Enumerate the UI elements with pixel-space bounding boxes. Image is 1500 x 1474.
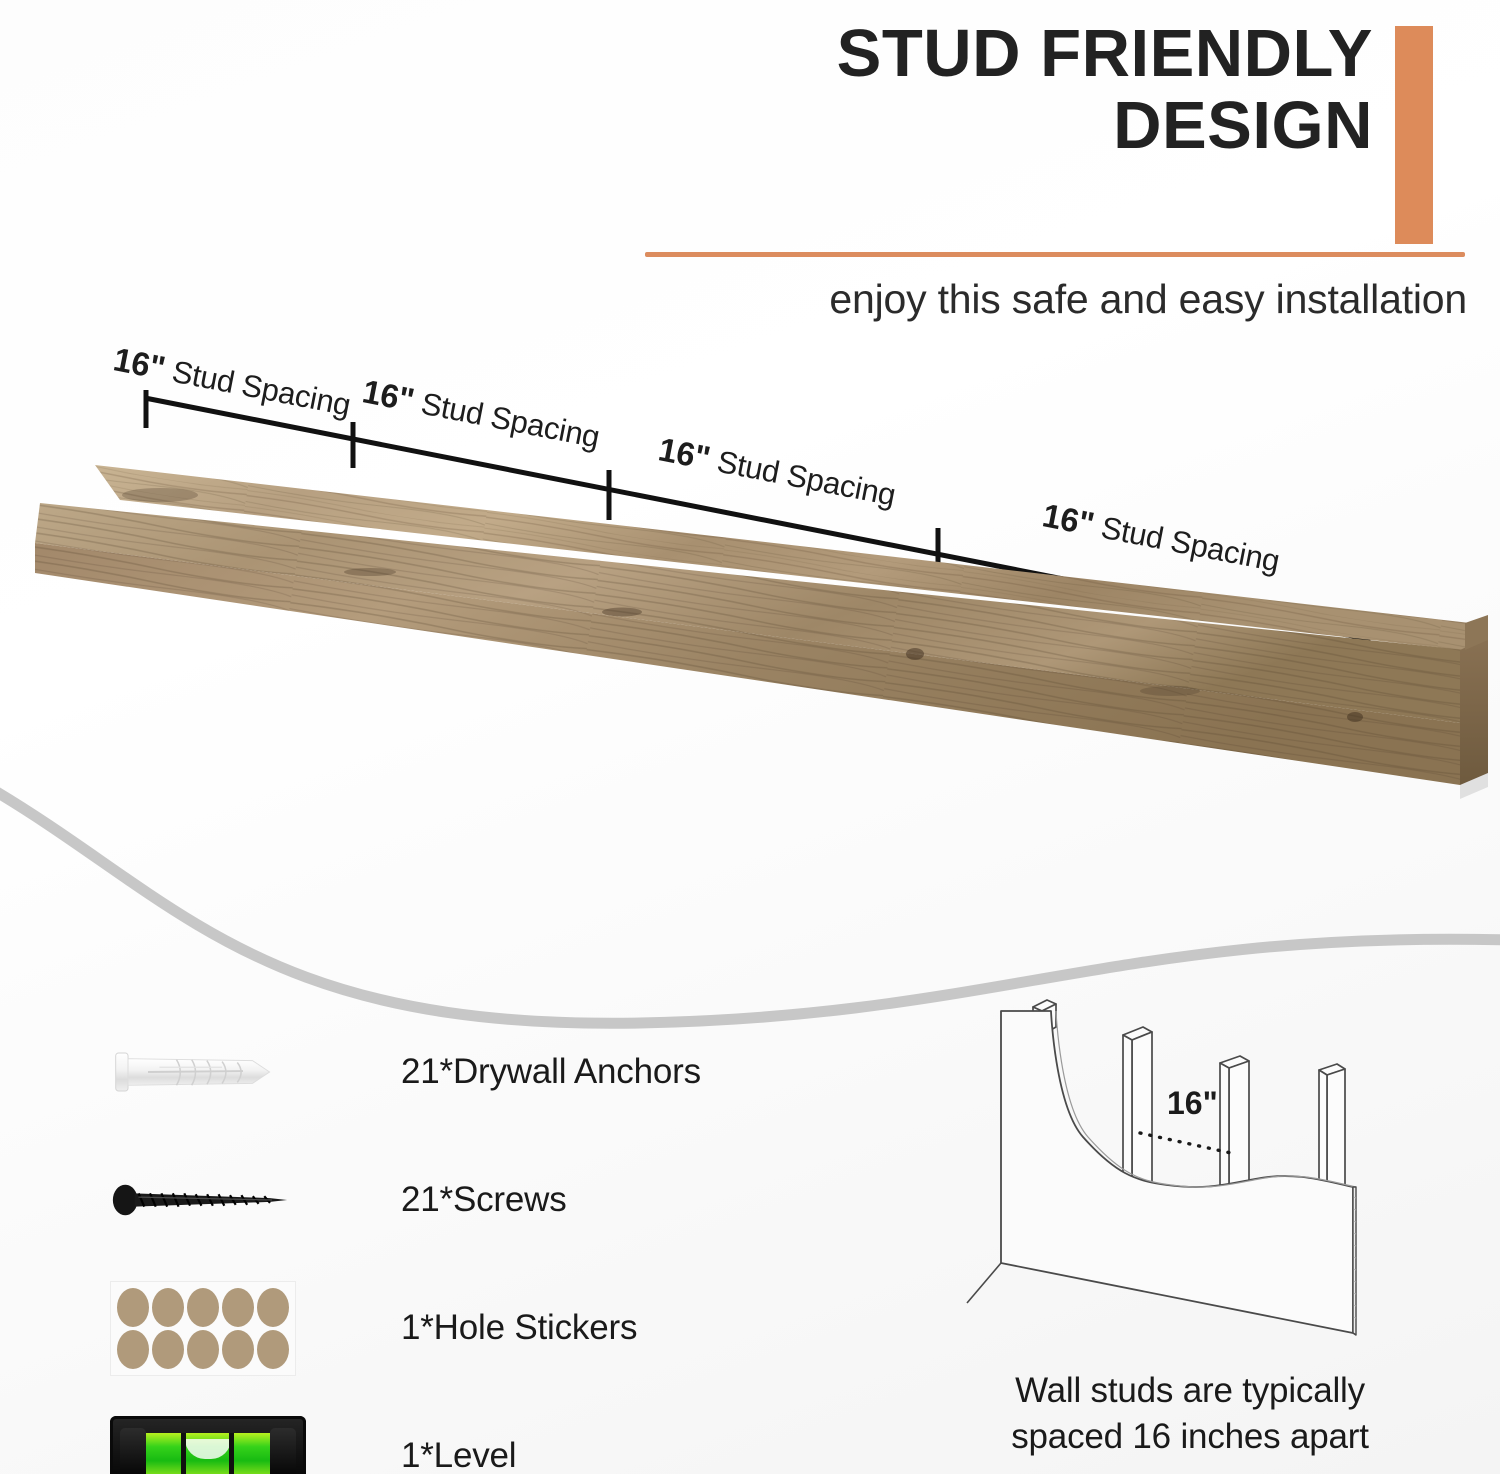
part-row-hole-stickers: 1*Hole Stickers (100, 1264, 760, 1392)
hole-stickers-sheet (110, 1281, 296, 1376)
level-cap-left (120, 1428, 146, 1474)
sticker-dot (222, 1330, 254, 1369)
level-mark-left (181, 1433, 186, 1474)
part-label-hole-stickers: 1*Hole Stickers (315, 1308, 637, 1348)
sticker-dot (257, 1288, 289, 1327)
stud-spacing-value-2: 16" (360, 372, 418, 418)
header-divider-rule (645, 252, 1465, 257)
accent-bar (1395, 26, 1433, 244)
sticker-dot (117, 1330, 149, 1369)
stud-spacing-text-1: Stud Spacing (169, 354, 353, 423)
wall-caption-line-2: spaced 16 inches apart (955, 1414, 1425, 1460)
part-row-screws: 21*Screws (100, 1136, 760, 1264)
wall-dimension-label: 16" (1167, 1085, 1218, 1122)
bubble-level-tool (110, 1416, 306, 1474)
sticker-dot (187, 1288, 219, 1327)
level-bubble (185, 1439, 231, 1459)
shelf-right-end-cap (1460, 637, 1488, 785)
page-title-line-1: STUD FRIENDLY (645, 18, 1465, 90)
stud-side-4 (1327, 1069, 1345, 1192)
wall-caption-line-1: Wall studs are typically (955, 1368, 1425, 1414)
wood-knot (1347, 712, 1363, 722)
stud-face-3 (1220, 1063, 1229, 1200)
sticker-dot (257, 1330, 289, 1369)
wall-stud-diagram: 16" (955, 985, 1455, 1355)
sticker-dot (152, 1288, 184, 1327)
wood-knot (602, 608, 642, 617)
level-icon (100, 1401, 315, 1474)
wood-knot (122, 488, 198, 502)
part-row-drywall-anchors: 21*Drywall Anchors (100, 1008, 760, 1136)
stud-spacing-label-2: 16" Stud Spacing (359, 372, 602, 455)
level-mark-right (229, 1433, 234, 1474)
stud-spacing-value-1: 16" (111, 340, 169, 386)
infographic-page: STUD FRIENDLY DESIGN enjoy this safe and… (0, 0, 1500, 1474)
sticker-dot (222, 1288, 254, 1327)
part-label-level: 1*Level (315, 1436, 516, 1474)
sticker-dot (152, 1330, 184, 1369)
stud-spacing-text-2: Stud Spacing (418, 386, 602, 455)
stud-spacing-label-1: 16" Stud Spacing (110, 340, 353, 423)
page-subtitle: enjoy this safe and easy installation (645, 276, 1467, 323)
drywall-panel-front (1001, 1011, 1353, 1333)
wall-diagram-caption: Wall studs are typically spaced 16 inche… (955, 1368, 1425, 1459)
stud-side-2 (1132, 1032, 1152, 1198)
stud-face-4 (1319, 1070, 1327, 1192)
part-label-drywall-anchors: 21*Drywall Anchors (315, 1052, 701, 1092)
stud-side-3 (1229, 1061, 1249, 1200)
stud-dimension-dotted-line (1140, 1133, 1231, 1153)
part-label-screws: 21*Screws (315, 1180, 567, 1220)
screw-icon (100, 1145, 315, 1255)
level-vial (132, 1433, 284, 1474)
drywall-anchor-icon (100, 1017, 315, 1127)
header-block: STUD FRIENDLY DESIGN (645, 18, 1465, 163)
wood-knot (1140, 686, 1200, 696)
part-row-level: 1*Level (100, 1392, 760, 1474)
hole-stickers-icon (100, 1273, 315, 1383)
floor-line (967, 1263, 1001, 1303)
sticker-dot (117, 1288, 149, 1327)
sticker-dot (187, 1330, 219, 1369)
page-title-line-2: DESIGN (645, 90, 1465, 162)
level-cap-right (270, 1428, 296, 1474)
wood-knot (906, 648, 924, 660)
parts-list: 21*Drywall Anchors 21*Screws (100, 1008, 760, 1474)
wood-knot (344, 568, 396, 576)
